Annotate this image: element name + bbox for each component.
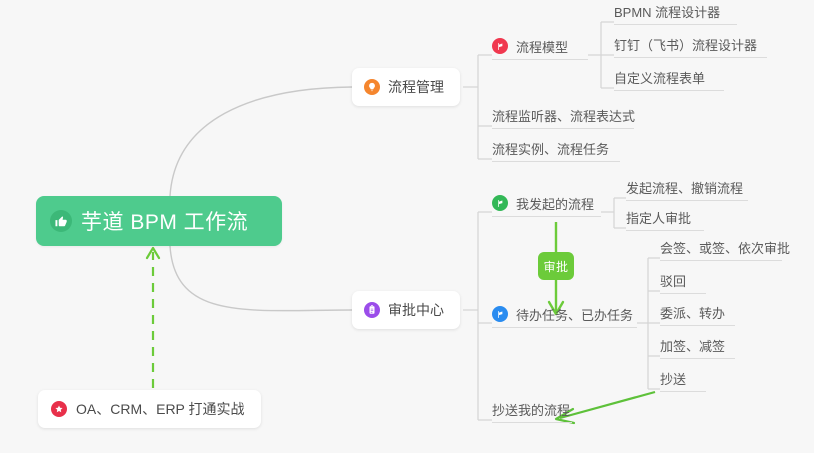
leaf-process-listener[interactable]: 流程监听器、流程表达式 [492, 109, 634, 129]
flag-icon [492, 306, 508, 322]
approve-badge[interactable]: 审批 [538, 252, 574, 280]
leaf-cc[interactable]: 抄送 [660, 372, 706, 392]
thumbs-up-icon [50, 210, 72, 232]
leaf-label-bpmn-designer: BPMN 流程设计器 [614, 5, 720, 20]
leaf-delegate-transfer[interactable]: 委派、转办 [660, 306, 735, 326]
leaf-label-todo-done-tasks: 待办任务、已办任务 [516, 308, 633, 323]
leaf-label-assignee-approval: 指定人审批 [626, 211, 691, 226]
leaf-reject[interactable]: 驳回 [660, 274, 706, 294]
leaf-add-remove-sign[interactable]: 加签、减签 [660, 339, 735, 359]
leaf-bpmn-designer[interactable]: BPMN 流程设计器 [614, 5, 737, 25]
leaf-dingtalk-designer[interactable]: 钉钉（飞书）流程设计器 [614, 38, 767, 58]
leaf-label-countersign: 会签、或签、依次审批 [660, 241, 790, 256]
star-icon [51, 401, 67, 417]
leaf-label-dingtalk-designer: 钉钉（飞书）流程设计器 [614, 38, 757, 53]
leaf-assignee-approval[interactable]: 指定人审批 [626, 211, 704, 231]
branch-label-approval-center: 审批中心 [388, 300, 444, 320]
leaf-label-my-started-processes: 我发起的流程 [516, 197, 594, 212]
clipboard-icon [364, 302, 380, 318]
leaf-process-instance[interactable]: 流程实例、流程任务 [492, 142, 620, 162]
leaf-label-cc-to-me: 抄送我的流程 [492, 403, 570, 418]
leaf-label-reject: 驳回 [660, 274, 686, 289]
leaf-process-model[interactable]: 流程模型 [492, 38, 588, 60]
leaf-label-process-instance: 流程实例、流程任务 [492, 142, 609, 157]
leaf-label-add-remove-sign: 加签、减签 [660, 339, 725, 354]
leaf-start-cancel-process[interactable]: 发起流程、撤销流程 [626, 181, 748, 201]
root-label: 芋道 BPM 工作流 [81, 206, 248, 236]
leaf-cc-to-me[interactable]: 抄送我的流程 [492, 403, 572, 423]
branch-label-process-management: 流程管理 [388, 77, 444, 97]
wire-root-to-approval-center [170, 246, 352, 311]
leaf-label-cc: 抄送 [660, 372, 686, 387]
integration-node[interactable]: OA、CRM、ERP 打通实战 [38, 390, 261, 428]
leaf-label-start-cancel-process: 发起流程、撤销流程 [626, 181, 743, 196]
leaf-label-custom-form: 自定义流程表单 [614, 71, 705, 86]
flag-icon [492, 38, 508, 54]
lightbulb-icon [364, 79, 380, 95]
integration-node-label: OA、CRM、ERP 打通实战 [76, 399, 245, 419]
approve-badge-label: 审批 [543, 258, 568, 275]
branch-node-approval-center[interactable]: 审批中心 [352, 291, 460, 329]
dashed-arrow-to-root [147, 248, 159, 388]
wire-root-to-process-management [170, 87, 352, 196]
leaf-custom-form[interactable]: 自定义流程表单 [614, 71, 724, 91]
leaf-label-process-model: 流程模型 [516, 40, 568, 55]
leaf-my-started-processes[interactable]: 我发起的流程 [492, 195, 601, 217]
root-node[interactable]: 芋道 BPM 工作流 [36, 196, 282, 246]
flag-icon [492, 195, 508, 211]
leaf-todo-done-tasks[interactable]: 待办任务、已办任务 [492, 306, 637, 328]
leaf-countersign[interactable]: 会签、或签、依次审批 [660, 241, 782, 261]
mindmap-canvas: 芋道 BPM 工作流 流程管理 流程模型 流程监听器、流程表达式 流程实例、流程… [0, 0, 814, 453]
branch-node-process-management[interactable]: 流程管理 [352, 68, 460, 106]
leaf-label-delegate-transfer: 委派、转办 [660, 306, 725, 321]
leaf-label-process-listener: 流程监听器、流程表达式 [492, 109, 635, 124]
